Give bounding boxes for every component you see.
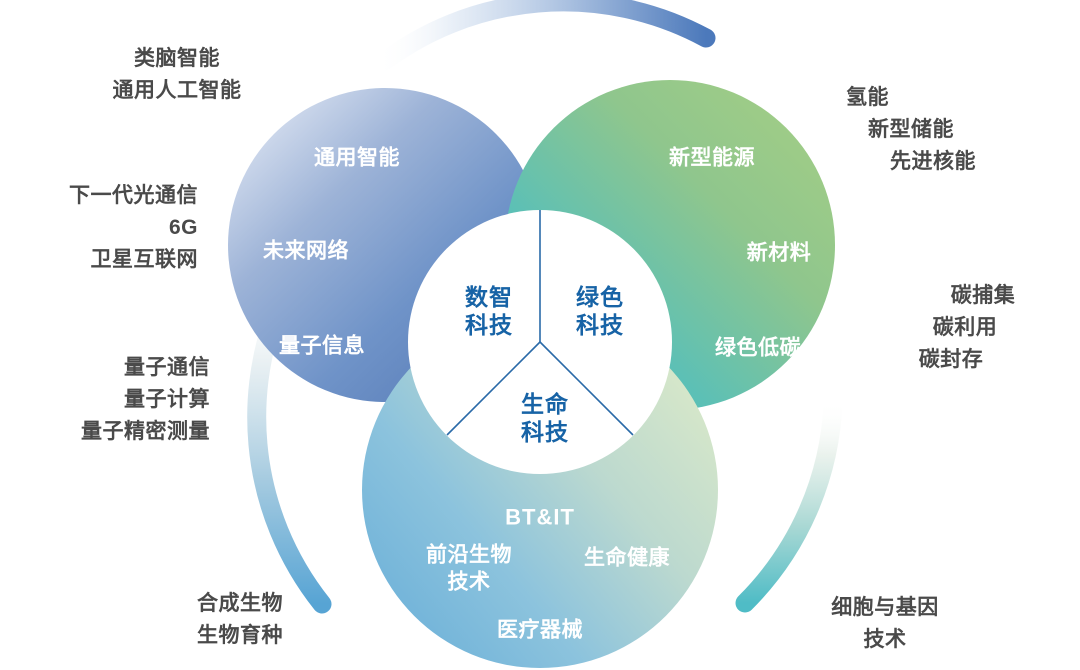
circle-label-frontier-biotech[interactable]: 前沿生物 技术 <box>426 542 512 597</box>
outer-label-quantum-tech[interactable]: 量子通信量子计算量子精密测量 <box>14 352 210 448</box>
arc-bottom-right <box>745 402 833 603</box>
circle-label-quantum-information[interactable]: 量子信息 <box>279 332 365 359</box>
arc-top <box>378 2 706 66</box>
circle-label-new-energy[interactable]: 新型能源 <box>669 144 755 171</box>
outer-label-cell-gene-technology[interactable]: 细胞与基因 技术 <box>790 592 980 656</box>
circle-label-general-intelligence[interactable]: 通用智能 <box>314 144 400 171</box>
core-label-green[interactable]: 绿色 科技 <box>576 283 624 339</box>
outer-label-carbon-technology[interactable]: 碳捕集碳利用碳封存 <box>885 280 1045 376</box>
outer-label-synthetic-biology[interactable]: 合成生物 生物育种 <box>150 588 330 652</box>
core-label-life[interactable]: 生命 科技 <box>521 390 569 446</box>
circle-label-new-materials[interactable]: 新材料 <box>747 239 812 266</box>
core-label-digital[interactable]: 数智 科技 <box>465 283 513 339</box>
circle-label-bt-and-it[interactable]: BT&IT <box>505 504 575 533</box>
circle-label-future-network[interactable]: 未来网络 <box>263 237 349 264</box>
outer-label-optical-comms[interactable]: 下一代光通信6G卫星互联网 <box>16 180 198 276</box>
circle-label-life-health[interactable]: 生命健康 <box>584 544 670 571</box>
diagram-canvas: 数智 科技 绿色 科技 生命 科技 通用智能 未来网络 量子信息 新型能源 新材… <box>0 0 1080 670</box>
outer-label-energy-technology[interactable]: 氢能新型储能先进核能 <box>846 82 1046 178</box>
outer-label-brain-like-ai[interactable]: 类脑智能 通用人工智能 <box>62 43 292 107</box>
circle-label-medical-devices[interactable]: 医疗器械 <box>497 616 583 643</box>
circle-label-green-low-carbon[interactable]: 绿色低碳 <box>715 334 801 361</box>
